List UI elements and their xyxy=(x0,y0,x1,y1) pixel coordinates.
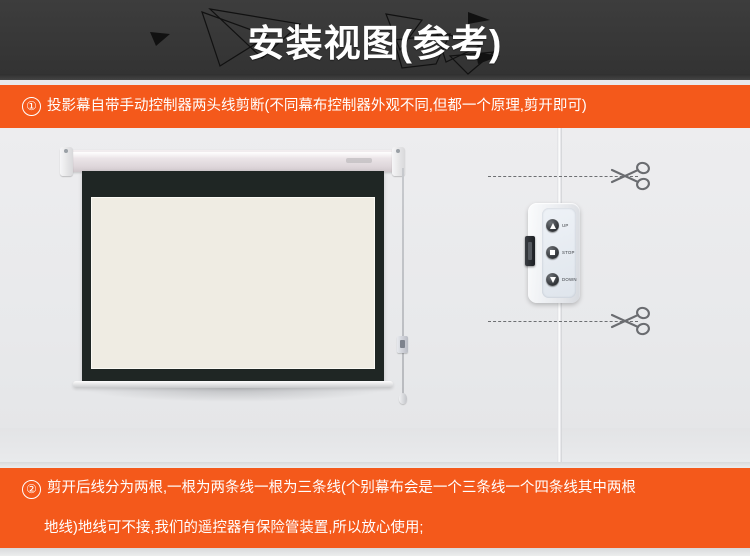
controller-face: UP STOP DOWN xyxy=(542,208,576,298)
bracket-pin-icon xyxy=(64,149,68,153)
cord-switch-toggle-icon xyxy=(400,340,405,348)
manual-controller: UP STOP DOWN xyxy=(528,203,580,303)
instruction-text-1: 投影幕自带手动控制器两头线剪断(不同幕布控制器外观不同,但都一个原理,剪开即可) xyxy=(47,99,587,115)
page-title: 安装视图(参考) xyxy=(0,0,750,80)
controller-area: UP STOP DOWN xyxy=(470,128,750,468)
power-switch[interactable] xyxy=(525,236,535,266)
casing-logo xyxy=(346,158,372,163)
controller-button-stop[interactable]: STOP xyxy=(546,246,575,259)
illustration-area: UP STOP DOWN xyxy=(0,128,750,468)
triangle-down-icon xyxy=(546,273,559,286)
controller-button-down[interactable]: DOWN xyxy=(546,273,577,286)
button-label-stop: STOP xyxy=(562,250,575,255)
screen-surface xyxy=(91,197,375,369)
projector-screen xyxy=(60,150,405,405)
screen-casing xyxy=(68,150,398,172)
screen-weight-bar xyxy=(73,381,393,387)
installation-diagram-page: 安装视图(参考) ① 投影幕自带手动控制器两头线剪断(不同幕布控制器外观不同,但… xyxy=(0,0,750,556)
cord-switch xyxy=(397,336,408,353)
page-header: 安装视图(参考) xyxy=(0,0,750,80)
button-label-down: DOWN xyxy=(562,277,577,282)
step-number-2: ② xyxy=(22,480,41,499)
scissors-icon xyxy=(610,306,654,336)
bracket-pin-icon xyxy=(396,149,400,153)
instruction-text-2-line2: 地线)地线可不接,我们的遥控器有保险管装置,所以放心使用; xyxy=(44,521,423,537)
instruction-text-2-line1: 剪开后线分为两根,一根为两条线一根为三条线(个别幕布会是一个三条线一个四条线其中… xyxy=(47,481,636,497)
button-label-up: UP xyxy=(562,223,569,228)
instruction-line-1: ① 投影幕自带手动控制器两头线剪断(不同幕布控制器外观不同,但都一个原理,剪开即… xyxy=(0,85,750,128)
pull-cord xyxy=(402,168,404,394)
power-switch-lever-icon xyxy=(528,242,532,260)
instruction-banner-2: ② 剪开后线分为两根,一根为两条线一根为三条线(个别幕布会是一个三条线一个四条线… xyxy=(0,468,750,548)
square-icon xyxy=(546,246,559,259)
controller-button-up[interactable]: UP xyxy=(546,219,569,232)
page-bottom-strip xyxy=(0,548,750,556)
screen-drop-shadow xyxy=(78,388,390,402)
scissors-icon xyxy=(610,161,654,191)
triangle-up-icon xyxy=(546,219,559,232)
instruction-line-2b: 地线)地线可不接,我们的遥控器有保险管装置,所以放心使用; xyxy=(0,510,750,548)
mount-bracket-left xyxy=(60,147,73,176)
screen-border xyxy=(82,171,384,381)
instruction-banner-1: ① 投影幕自带手动控制器两头线剪断(不同幕布控制器外观不同,但都一个原理,剪开即… xyxy=(0,85,750,128)
step-number-1: ① xyxy=(22,97,41,116)
instruction-line-2a: ② 剪开后线分为两根,一根为两条线一根为三条线(个别幕布会是一个三条线一个四条线… xyxy=(0,468,750,510)
cord-tip xyxy=(399,393,407,404)
